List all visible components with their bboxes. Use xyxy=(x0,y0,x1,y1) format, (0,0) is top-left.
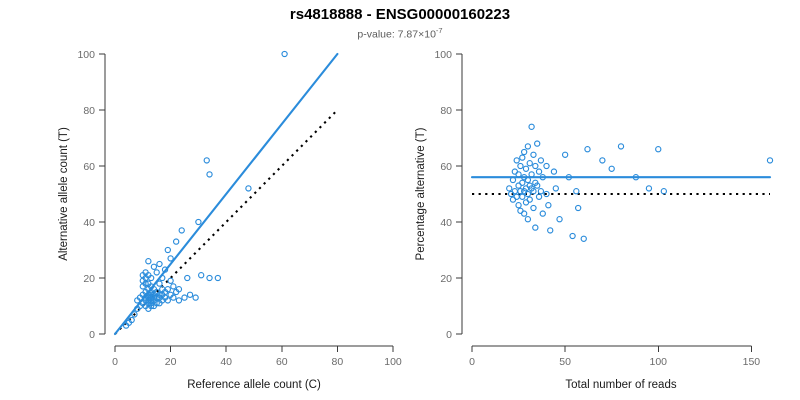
scatter-allele-counts: 020406080100020406080100Reference allele… xyxy=(0,0,410,400)
data-point xyxy=(185,275,190,280)
data-point xyxy=(609,166,614,171)
data-point xyxy=(533,163,538,168)
y-tick-label-0: 0 xyxy=(446,329,452,341)
data-point xyxy=(174,239,179,244)
data-point xyxy=(168,256,173,261)
x-tick-label-40: 40 xyxy=(220,356,232,368)
data-point xyxy=(204,158,209,163)
x-tick-label-0: 0 xyxy=(112,356,118,368)
data-point xyxy=(151,264,156,269)
y-axis-title: Alternative allele count (T) xyxy=(58,127,70,261)
y-tick-label-20: 20 xyxy=(83,273,95,285)
data-point xyxy=(540,211,545,216)
data-point xyxy=(529,124,534,129)
data-point xyxy=(514,194,519,199)
data-point xyxy=(157,281,162,286)
y-tick-label-60: 60 xyxy=(440,161,452,173)
data-point xyxy=(516,203,521,208)
data-point xyxy=(538,189,543,194)
data-point xyxy=(520,180,525,185)
scatter-percentage-alternative: 020406080100050100150Total number of rea… xyxy=(410,0,800,400)
data-point xyxy=(215,275,220,280)
y-tick-label-0: 0 xyxy=(89,329,95,341)
x-tick-label-150: 150 xyxy=(743,356,761,368)
x-axis-title: Reference allele count (C) xyxy=(187,379,321,391)
data-point xyxy=(182,295,187,300)
data-point xyxy=(514,158,519,163)
x-tick-label-100: 100 xyxy=(384,356,402,368)
data-point xyxy=(193,295,198,300)
data-point xyxy=(536,169,541,174)
data-point xyxy=(527,161,532,166)
data-point xyxy=(531,152,536,157)
data-point xyxy=(176,298,181,303)
data-point xyxy=(171,284,176,289)
y-tick-label-40: 40 xyxy=(83,217,95,229)
data-point xyxy=(246,186,251,191)
data-point xyxy=(533,225,538,230)
data-point xyxy=(570,233,575,238)
x-tick-label-100: 100 xyxy=(649,356,667,368)
data-point xyxy=(546,203,551,208)
y-tick-label-60: 60 xyxy=(83,161,95,173)
data-point xyxy=(531,205,536,210)
y-axis-title: Percentage alternative (T) xyxy=(415,127,427,260)
data-point xyxy=(553,186,558,191)
data-point xyxy=(525,144,530,149)
data-point xyxy=(157,261,162,266)
data-point xyxy=(523,166,528,171)
x-tick-label-20: 20 xyxy=(165,356,177,368)
x-tick-label-60: 60 xyxy=(276,356,288,368)
y-tick-label-100: 100 xyxy=(77,49,95,61)
y-tick-label-20: 20 xyxy=(440,273,452,285)
data-point xyxy=(544,163,549,168)
data-point xyxy=(585,147,590,152)
data-point xyxy=(618,144,623,149)
data-point xyxy=(563,152,568,157)
data-point xyxy=(557,217,562,222)
data-point xyxy=(520,155,525,160)
data-point xyxy=(168,278,173,283)
data-point xyxy=(646,186,651,191)
data-point xyxy=(522,211,527,216)
data-point xyxy=(207,275,212,280)
data-point xyxy=(179,228,184,233)
panel-allele-counts: 020406080100020406080100Reference allele… xyxy=(0,0,410,400)
data-point xyxy=(525,217,530,222)
y-tick-label-80: 80 xyxy=(440,105,452,117)
data-point xyxy=(512,189,517,194)
x-tick-label-80: 80 xyxy=(332,356,344,368)
panel-percentage-alternative: 020406080100050100150Total number of rea… xyxy=(410,0,800,400)
x-tick-label-50: 50 xyxy=(559,356,571,368)
data-point xyxy=(154,270,159,275)
data-point xyxy=(535,141,540,146)
data-point xyxy=(551,169,556,174)
y-tick-label-100: 100 xyxy=(434,49,452,61)
data-point xyxy=(576,205,581,210)
y-tick-label-40: 40 xyxy=(440,217,452,229)
data-point xyxy=(146,259,151,264)
data-point xyxy=(165,247,170,252)
data-point xyxy=(507,186,512,191)
data-point xyxy=(518,163,523,168)
data-point xyxy=(527,197,532,202)
data-point xyxy=(520,194,525,199)
data-point xyxy=(538,158,543,163)
x-axis-title: Total number of reads xyxy=(565,379,676,391)
data-point xyxy=(187,292,192,297)
data-point xyxy=(522,149,527,154)
data-point xyxy=(600,158,605,163)
data-point xyxy=(199,273,204,278)
figure-root: rs4818888 - ENSG00000160223 p-value: 7.8… xyxy=(0,0,800,400)
data-point xyxy=(282,51,287,56)
data-point xyxy=(548,228,553,233)
x-tick-label-0: 0 xyxy=(469,356,475,368)
data-point xyxy=(656,147,661,152)
data-point xyxy=(574,189,579,194)
y-tick-label-80: 80 xyxy=(83,105,95,117)
data-point xyxy=(196,219,201,224)
data-point xyxy=(581,236,586,241)
data-point xyxy=(767,158,772,163)
data-point xyxy=(207,172,212,177)
